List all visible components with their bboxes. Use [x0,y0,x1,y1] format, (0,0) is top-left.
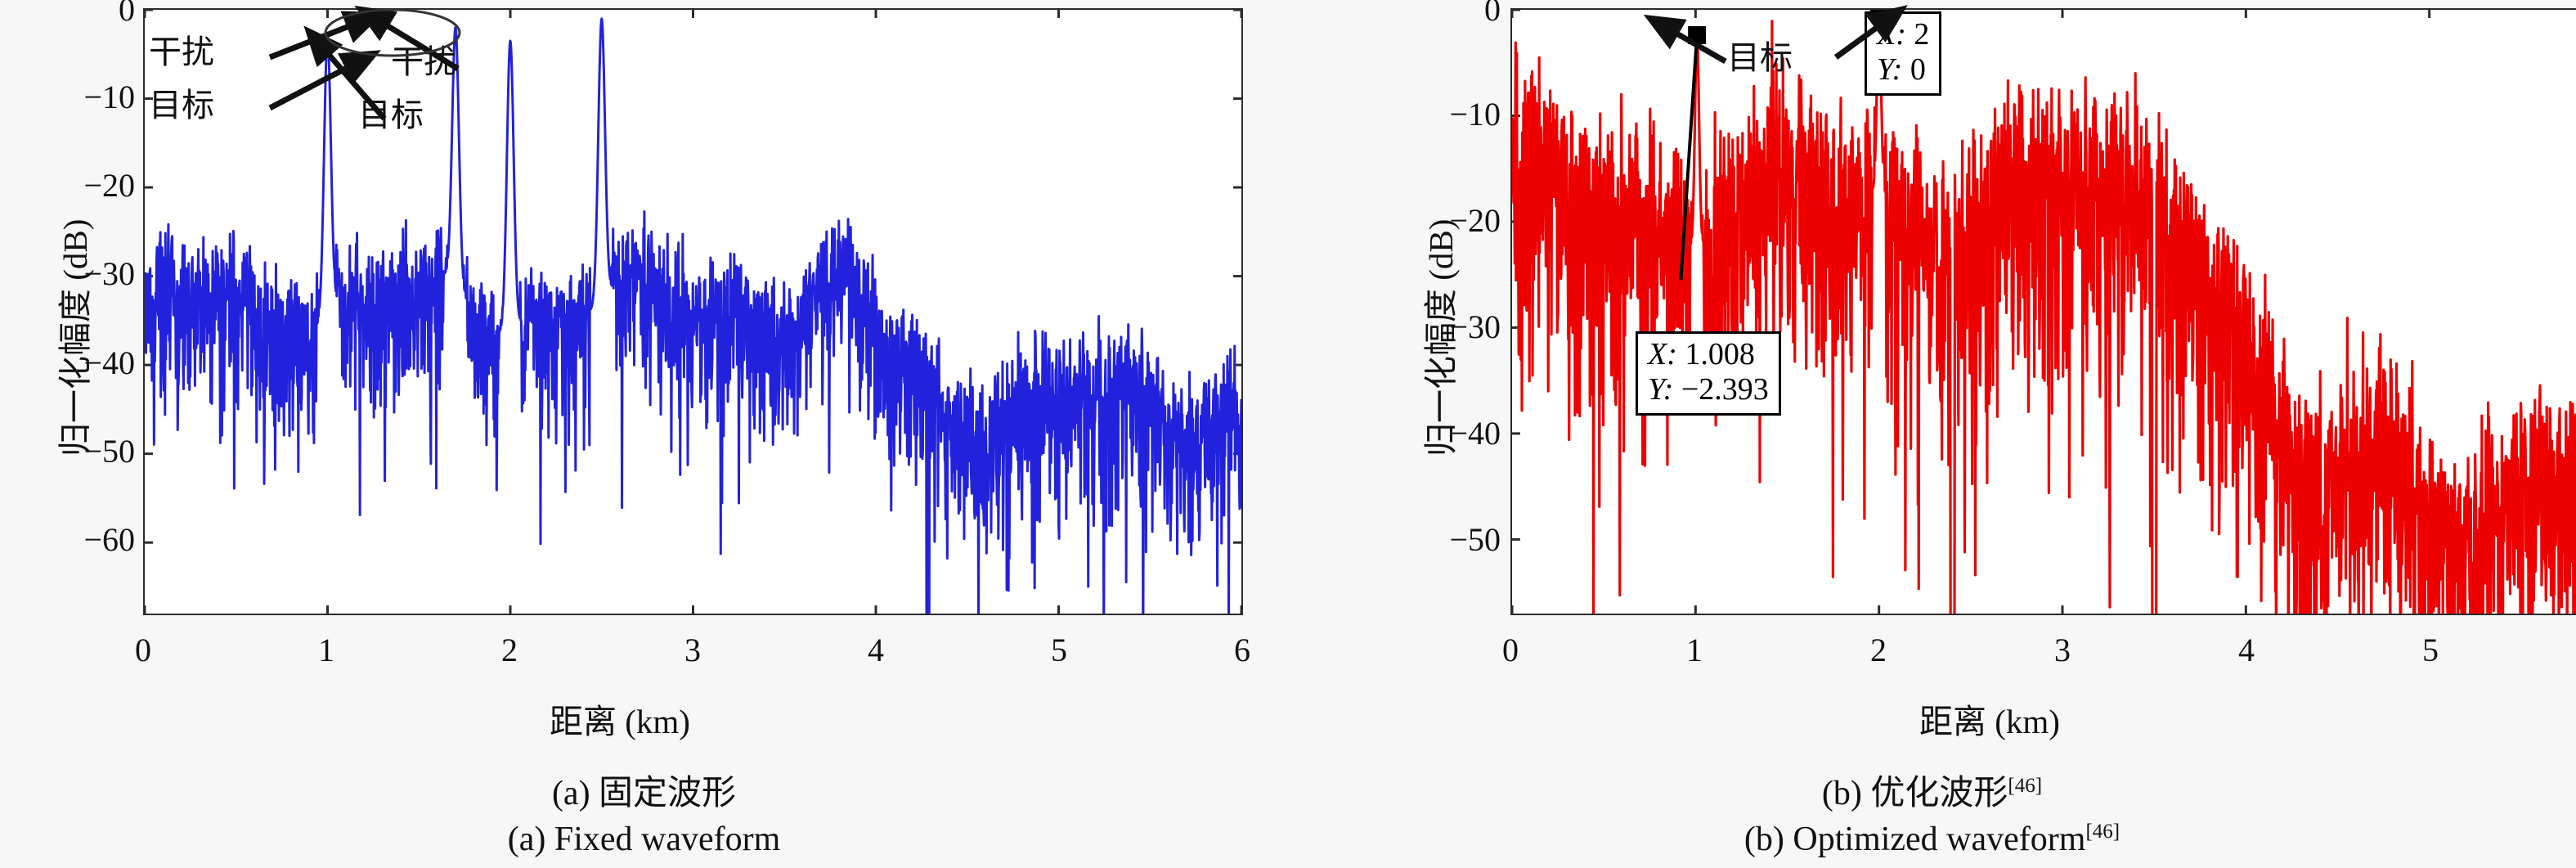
y-tick-a-m60: −60 [49,524,135,556]
x-tick-a-0: 0 [123,634,164,667]
y-tick-a-m20: −20 [49,169,135,202]
datatip-peak-2km: X: 2 Y: 0 [1865,11,1941,96]
caption-b-cn-ref: [46] [2008,775,2042,797]
target-label-b: 目标 [1727,41,1793,75]
caption-b-cn: (b) 优化波形[46] [1288,765,2576,815]
datatip-peak-1km: X: 1.008 Y: −2.393 [1636,331,1781,416]
datatip-1km-y-label: Y: [1648,372,1673,407]
datatip-2km-y-label: Y: [1877,52,1902,87]
x-tick-a-3: 3 [672,634,713,667]
panel-a-fixed-waveform: 0 −10 −20 −30 −40 −50 −60 0 1 2 3 4 5 6 … [0,0,1288,868]
waveform-plot-b [1512,10,2576,614]
x-tick-b-2: 2 [1858,634,1899,667]
y-axis-label-b: 归一化幅度 (dB) [1413,219,1462,456]
panel-b-optimized-waveform: 0 −10 −20 −30 −40 −50 0 1 2 3 4 5 6 距离 (… [1288,0,2576,868]
target-label-a-right: 目标 [358,98,424,133]
x-axis-label-a: 距离 (km) [550,694,690,743]
datatip-2km-x-value: 2 [1914,17,1929,52]
caption-b-en-text: (b) Optimized waveform [1744,821,2086,858]
datatip-2km-x-row: X: 2 [1877,17,1929,52]
target-label-a-left: 目标 [149,88,214,123]
datatip-1km-x-value: 1.008 [1685,337,1755,371]
y-tick-b-0: 0 [1415,0,1501,26]
caption-a-en: (a) Fixed waveform [0,820,1288,859]
x-tick-b-0: 0 [1490,634,1531,667]
x-tick-b-4: 4 [2226,634,2267,667]
x-tick-b-3: 3 [2042,634,2083,667]
datatip-2km-y-row: Y: 0 [1877,52,1929,88]
datatip-1km-y-value: −2.393 [1681,372,1769,407]
caption-a-en-text: (a) Fixed waveform [508,821,781,858]
caption-b-cn-text: (b) 优化波形 [1822,775,2008,812]
figure-root: 0 −10 −20 −30 −40 −50 −60 0 1 2 3 4 5 6 … [0,0,2576,868]
caption-b-en-ref: [46] [2085,821,2120,843]
datatip-1km-y-row: Y: −2.393 [1648,372,1769,407]
x-tick-b-5: 5 [2410,634,2451,667]
caption-a-cn-text: (a) 固定波形 [552,775,736,812]
x-tick-a-1: 1 [306,634,347,667]
y-tick-b-m10: −10 [1415,98,1501,131]
waveform-plot-a [145,10,1241,614]
datatip-2km-y-value: 0 [1910,52,1926,87]
plot-area-a [143,8,1243,615]
y-tick-b-m50: −50 [1415,524,1501,556]
x-tick-b-1: 1 [1674,634,1715,667]
x-axis-label-b: 距离 (km) [1919,694,2060,743]
interference-label-a-left: 干扰 [149,35,214,70]
plot-area-b [1510,8,2576,615]
x-tick-a-5: 5 [1039,634,1079,667]
interference-label-a-right: 干扰 [391,45,456,79]
datatip-1km-x-row: X: 1.008 [1648,337,1769,372]
caption-b-en: (b) Optimized waveform[46] [1288,820,2576,859]
y-tick-a-0: 0 [49,0,135,26]
x-tick-a-2: 2 [489,634,530,667]
caption-a-cn: (a) 固定波形 [0,765,1288,815]
datatip-2km-x-label: X: [1877,17,1906,52]
x-tick-a-6: 6 [1222,634,1263,667]
y-axis-label-a: 归一化幅度 (dB) [47,219,96,456]
x-tick-a-4: 4 [855,634,896,667]
y-tick-a-m10: −10 [49,81,135,114]
datatip-1km-x-label: X: [1648,337,1677,371]
